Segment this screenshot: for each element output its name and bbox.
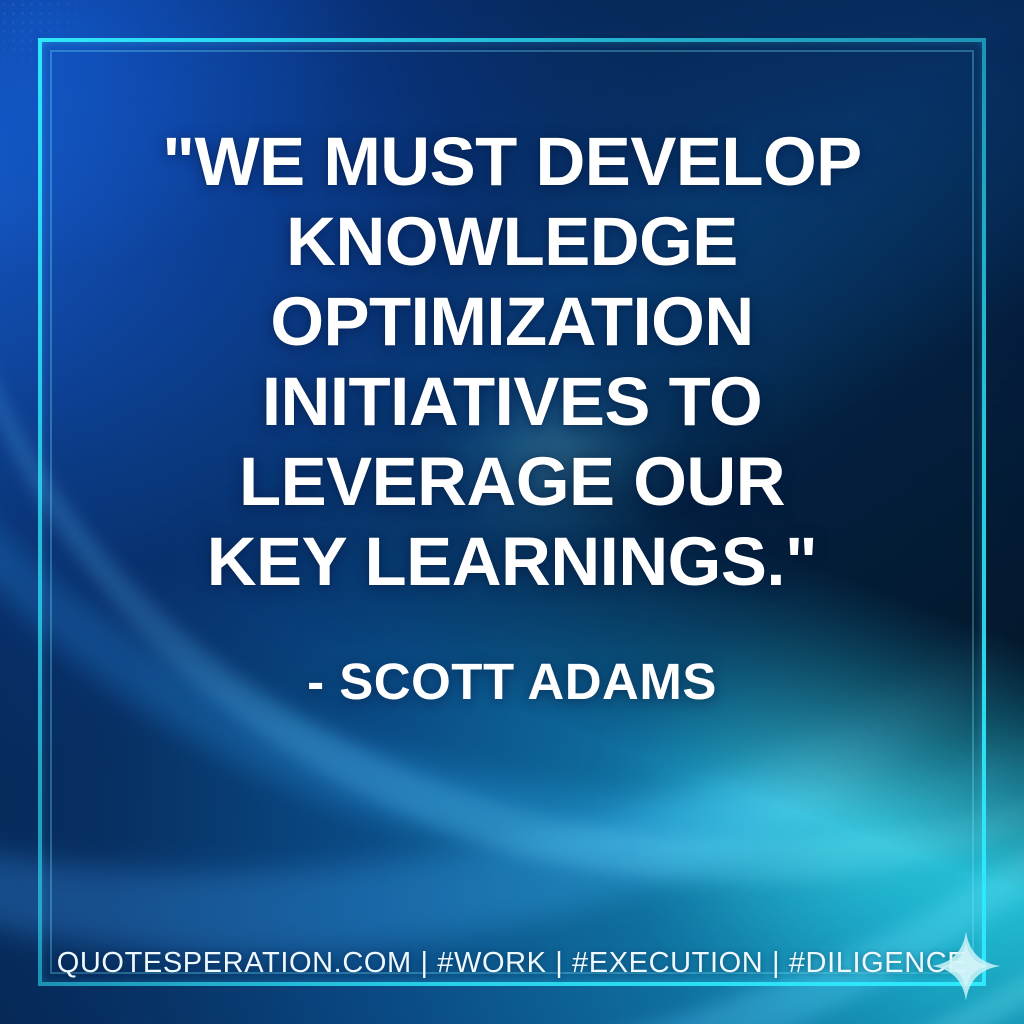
quote-text: "WE MUST DEVELOP KNOWLEDGE OPTIMIZATION … (162, 122, 862, 602)
footer-bar: QUOTESPERATION.COM | #WORK | #EXECUTION … (0, 947, 1024, 980)
card-content: "WE MUST DEVELOP KNOWLEDGE OPTIMIZATION … (0, 0, 1024, 1024)
quote-card: "WE MUST DEVELOP KNOWLEDGE OPTIMIZATION … (0, 0, 1024, 1024)
footer-text: QUOTESPERATION.COM | #WORK | #EXECUTION … (57, 947, 968, 980)
quote-attribution: - SCOTT ADAMS (307, 652, 717, 711)
